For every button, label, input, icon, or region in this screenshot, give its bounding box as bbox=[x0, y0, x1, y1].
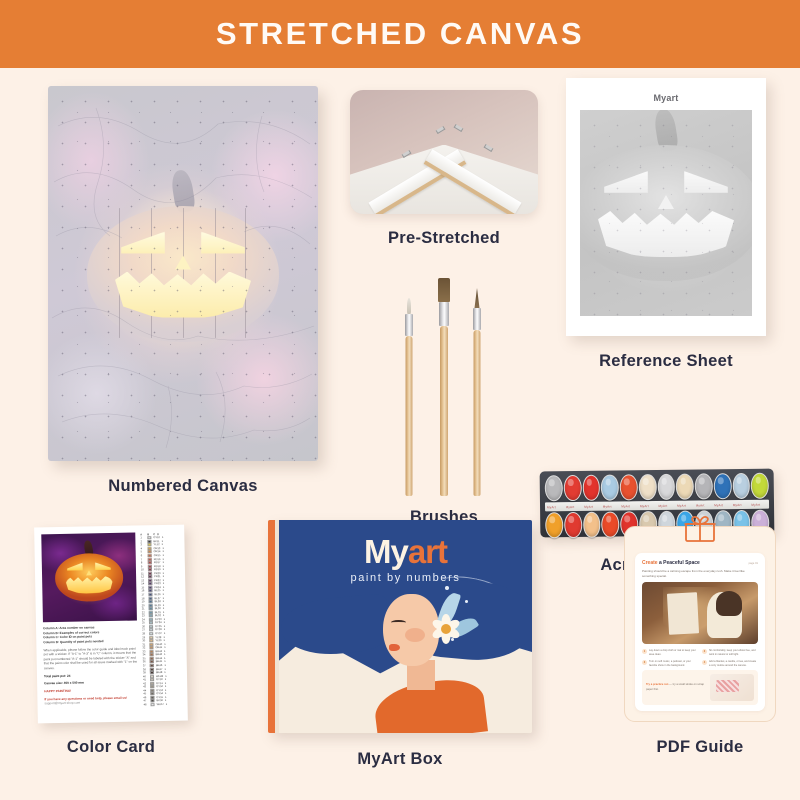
paint-label: MyArt bbox=[621, 504, 637, 508]
caption-myart-box: MyArt Box bbox=[268, 750, 532, 769]
flower-icon bbox=[429, 612, 463, 646]
caption-numbered-canvas: Numbered Canvas bbox=[48, 477, 318, 496]
color-card-left-column: Column A: Area number on canvas Column B… bbox=[41, 533, 138, 718]
box-front-face: Myart paint by numbers bbox=[279, 520, 532, 733]
tip-text: Sit comfortably, keep your elbow free, a… bbox=[709, 649, 758, 657]
paint-pot-top-2[interactable] bbox=[563, 475, 581, 501]
caption-reference-sheet: Reference Sheet bbox=[566, 352, 766, 371]
total-paint-pot: Total paint pot: 24 bbox=[44, 672, 138, 678]
paint-pot-top-6[interactable] bbox=[638, 474, 656, 500]
pdf-heading: Create a Peaceful Space bbox=[642, 560, 700, 566]
support-email: support@myart-shop.com bbox=[44, 700, 138, 706]
color-card-row: 48WH571 bbox=[144, 702, 181, 706]
tip-text: Turn on soft music, a podcast, or your f… bbox=[649, 660, 698, 668]
row-color-swatch bbox=[151, 703, 155, 706]
caption-color-card: Color Card bbox=[36, 738, 186, 757]
paint-pot-row-top bbox=[545, 473, 769, 502]
product-pdf-guide[interactable]: Create a Peaceful Space page 01 Painting… bbox=[624, 526, 776, 757]
reference-grayscale-image bbox=[580, 110, 752, 316]
caption-pdf-guide: PDF Guide bbox=[624, 738, 776, 757]
pdf-tip-item: 1Lay down a drop cloth or mat to keep yo… bbox=[642, 649, 698, 657]
flower-center bbox=[441, 624, 451, 634]
footer-highlight: Try a practice run bbox=[646, 683, 668, 686]
color-card-thumbnail bbox=[41, 533, 137, 623]
sparkle-dot bbox=[445, 586, 449, 590]
box-side-edge bbox=[268, 520, 275, 733]
paint-pot-top-5[interactable] bbox=[620, 474, 638, 500]
paint-label: MyArt bbox=[733, 502, 749, 506]
pdf-guide-page: Create a Peaceful Space page 01 Painting… bbox=[635, 553, 765, 711]
pumpkin-body bbox=[55, 553, 124, 602]
person-hair bbox=[716, 591, 742, 616]
myart-logo-text: Myart bbox=[580, 93, 752, 103]
paint-label: MyArt bbox=[677, 503, 693, 507]
paint-label: MyArt bbox=[584, 504, 600, 508]
product-color-card[interactable]: Column A: Area number on canvas Column B… bbox=[36, 526, 186, 757]
canvas-size: Canvas size: 400 x 500 mm bbox=[44, 680, 138, 686]
row-color-id: WH57 bbox=[157, 703, 164, 706]
pdf-page-number: page 01 bbox=[749, 562, 758, 565]
product-myart-box[interactable]: Myart paint by numbers MyArt Box bbox=[268, 520, 532, 769]
reference-sheet-paper: Myart bbox=[566, 78, 766, 336]
paint-pot-top-11[interactable] bbox=[732, 473, 750, 499]
sparkle-dot bbox=[465, 600, 468, 603]
number-dots-texture bbox=[48, 86, 318, 461]
staple-icon bbox=[454, 124, 464, 132]
product-numbered-canvas[interactable]: Numbered Canvas bbox=[48, 86, 318, 496]
paint-label: MyArt bbox=[696, 503, 712, 507]
instructions-paragraph: When applicable, please follow the color… bbox=[43, 646, 137, 671]
tip-number: 1 bbox=[642, 649, 647, 654]
numbered-canvas-image bbox=[48, 86, 318, 461]
paint-pot-top-9[interactable] bbox=[695, 473, 713, 499]
pdf-heading-highlight: Create bbox=[642, 560, 658, 566]
paint-label: MyArt bbox=[547, 505, 563, 509]
product-reference-sheet[interactable]: Myart Reference Sheet bbox=[566, 78, 766, 371]
footer-text: Try a practice run — try a small stroke … bbox=[646, 683, 706, 691]
tip-number: 2 bbox=[702, 649, 707, 654]
paint-label: MyArt bbox=[603, 504, 619, 508]
myart-box-image: Myart paint by numbers bbox=[268, 520, 532, 733]
row-area-number: 48 bbox=[144, 703, 149, 706]
paint-pot-bottom-1[interactable] bbox=[545, 512, 563, 538]
paint-label: MyArt bbox=[714, 503, 730, 507]
brush-round-thin bbox=[402, 300, 416, 496]
pdf-heading-rest: a Peaceful Space bbox=[658, 560, 700, 566]
tip-number: 4 bbox=[702, 660, 707, 665]
color-card-legend-table: A B C D 1GY1012BK1113YL1214OR1315OR1416O… bbox=[140, 532, 181, 716]
number-dots-texture bbox=[580, 110, 752, 316]
paint-pot-top-7[interactable] bbox=[657, 474, 675, 500]
tip-number: 3 bbox=[642, 660, 647, 665]
caption-pre-stretched: Pre-Stretched bbox=[350, 229, 538, 248]
paint-label: MyArt bbox=[640, 504, 656, 508]
easel-canvas bbox=[666, 593, 698, 635]
pdf-footer-note: Try a practice run — try a small stroke … bbox=[642, 670, 758, 705]
logo-my-text: My bbox=[364, 533, 408, 570]
color-card-sheet: Column A: Area number on canvas Column B… bbox=[34, 525, 188, 724]
paint-pot-top-8[interactable] bbox=[676, 474, 694, 500]
paint-label: MyArt bbox=[658, 503, 674, 507]
brush-flat-wide bbox=[436, 278, 452, 496]
color-card-instructions: Column A: Area number on canvas Column B… bbox=[43, 625, 139, 707]
paint-pot-top-4[interactable] bbox=[601, 474, 619, 500]
pdf-tip-item: 3Turn on soft music, a podcast, or your … bbox=[642, 660, 698, 668]
figure-lips bbox=[389, 644, 400, 651]
brush-round-pointed bbox=[470, 290, 484, 496]
legend-column-d: Column D: Quantity of paint pots needed bbox=[43, 638, 137, 644]
pdf-photo bbox=[642, 582, 758, 644]
product-brushes[interactable]: Brushes bbox=[386, 264, 502, 527]
pdf-guide-card: Create a Peaceful Space page 01 Painting… bbox=[624, 526, 776, 722]
pdf-tip-list: 1Lay down a drop cloth or mat to keep yo… bbox=[642, 649, 758, 667]
myart-logo: Myart paint by numbers bbox=[279, 533, 532, 584]
pdf-tip-item: 2Sit comfortably, keep your elbow free, … bbox=[702, 649, 758, 657]
paint-pot-bottom-4[interactable] bbox=[601, 511, 619, 537]
gift-icon bbox=[683, 513, 717, 543]
staple-icon bbox=[484, 144, 494, 152]
row-quantity: 1 bbox=[166, 703, 168, 706]
paint-pot-top-3[interactable] bbox=[582, 475, 600, 501]
figure-eye bbox=[391, 620, 406, 625]
staple-icon bbox=[436, 126, 446, 134]
page-header: STRETCHED CANVAS bbox=[0, 0, 800, 68]
paint-pot-bottom-2[interactable] bbox=[564, 512, 582, 538]
paint-label: MyArt bbox=[751, 502, 767, 506]
pdf-header: Create a Peaceful Space page 01 bbox=[642, 560, 758, 566]
brush-group bbox=[386, 264, 502, 496]
logo-tagline: paint by numbers bbox=[279, 572, 532, 584]
pre-stretched-photo bbox=[350, 90, 538, 214]
paint-label: MyArt bbox=[566, 504, 582, 508]
paint-pot-top-10[interactable] bbox=[713, 473, 731, 499]
footer-thumbnail bbox=[710, 674, 754, 701]
tip-text: Add a blanket, a candle, or tea, and cre… bbox=[709, 660, 758, 668]
happy-painting-line: HAPPY PAINTING! bbox=[44, 688, 138, 694]
product-pre-stretched[interactable]: Pre-Stretched bbox=[350, 90, 538, 248]
sparkle-dot bbox=[451, 638, 454, 641]
paint-pot-top-1[interactable] bbox=[545, 475, 563, 501]
paint-pot-top-12[interactable] bbox=[751, 473, 769, 499]
figure-cheek bbox=[405, 628, 425, 642]
product-grid: Numbered Canvas Pre-Stretched Myart bbox=[0, 68, 800, 800]
page-title: STRETCHED CANVAS bbox=[216, 16, 584, 52]
paint-pot-bottom-3[interactable] bbox=[583, 512, 601, 538]
logo-art-text: art bbox=[408, 533, 447, 570]
pdf-tip-item: 4Add a blanket, a candle, or tea, and cr… bbox=[702, 660, 758, 668]
tip-text: Lay down a drop cloth or mat to keep you… bbox=[649, 649, 698, 657]
pdf-intro-text: Painting should be a calming escape from… bbox=[642, 569, 758, 578]
